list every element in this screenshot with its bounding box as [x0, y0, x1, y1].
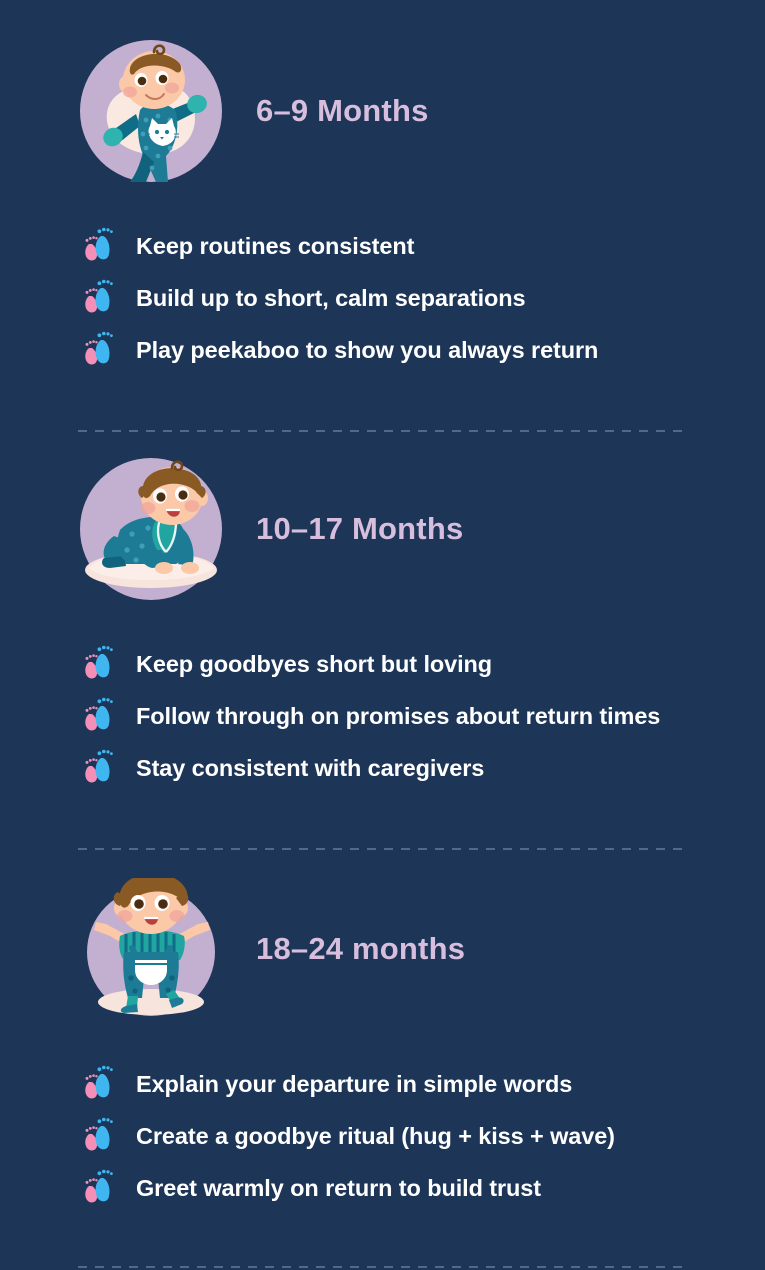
baby-footprints-icon: [82, 1169, 118, 1207]
baby-lying-illustration: [80, 40, 222, 182]
list-item: Keep routines consistent: [82, 220, 765, 272]
list-item: Create a goodbye ritual (hug + kiss + wa…: [82, 1110, 765, 1162]
baby-footprints-icon: [82, 697, 118, 735]
list-item: Follow through on promises about return …: [82, 690, 765, 742]
toddler-standing-illustration: [80, 878, 222, 1020]
bullet-list: Keep routines consistent: [0, 220, 765, 376]
list-item-label: Keep goodbyes short but loving: [136, 651, 492, 678]
section-divider: [78, 430, 685, 432]
section-header: 18–24 months: [0, 878, 765, 1020]
baby-footprints-icon: [82, 645, 118, 683]
section-title: 10–17 Months: [256, 511, 463, 547]
list-item: Play peekaboo to show you always return: [82, 324, 765, 376]
list-item: Keep goodbyes short but loving: [82, 638, 765, 690]
baby-footprints-icon: [82, 1065, 118, 1103]
list-item-label: Play peekaboo to show you always return: [136, 337, 598, 364]
list-item-label: Create a goodbye ritual (hug + kiss + wa…: [136, 1123, 615, 1150]
section-title: 6–9 Months: [256, 93, 429, 129]
section-header: 6–9 Months: [0, 40, 765, 182]
section-10-17-months: 10–17 Months: [0, 458, 765, 794]
list-item: Explain your departure in simple words: [82, 1058, 765, 1110]
list-item: Build up to short, calm separations: [82, 272, 765, 324]
list-item-label: Keep routines consistent: [136, 233, 414, 260]
list-item-label: Stay consistent with caregivers: [136, 755, 484, 782]
bullet-list: Explain your departure in simple words: [0, 1058, 765, 1214]
baby-footprints-icon: [82, 1117, 118, 1155]
list-item: Greet warmly on return to build trust: [82, 1162, 765, 1214]
baby-footprints-icon: [82, 279, 118, 317]
section-header: 10–17 Months: [0, 458, 765, 600]
infographic-page: 6–9 Months: [0, 0, 765, 1270]
bullet-list: Keep goodbyes short but loving: [0, 638, 765, 794]
list-item-label: Explain your departure in simple words: [136, 1071, 572, 1098]
baby-footprints-icon: [82, 749, 118, 787]
list-item-label: Greet warmly on return to build trust: [136, 1175, 541, 1202]
baby-crawling-illustration: [80, 458, 222, 600]
list-item-label: Follow through on promises about return …: [136, 703, 660, 730]
baby-footprints-icon: [82, 331, 118, 369]
list-item: Stay consistent with caregivers: [82, 742, 765, 794]
list-item-label: Build up to short, calm separations: [136, 285, 526, 312]
section-6-9-months: 6–9 Months: [0, 40, 765, 376]
section-18-24-months: 18–24 months: [0, 878, 765, 1214]
section-title: 18–24 months: [256, 931, 465, 967]
section-divider: [78, 1266, 685, 1268]
section-divider: [78, 848, 685, 850]
baby-footprints-icon: [82, 227, 118, 265]
